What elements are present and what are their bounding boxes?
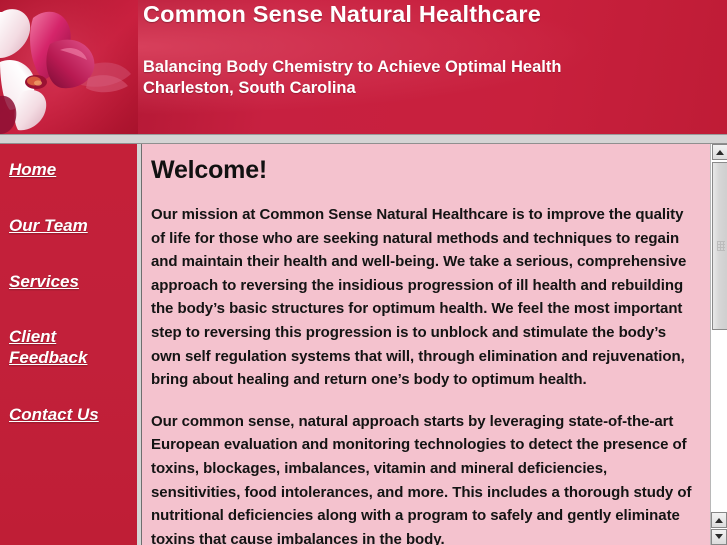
sidebar-item-label: Services [9,272,79,291]
content-scrollbar[interactable] [710,144,727,545]
sidebar-item-label: Home [9,160,56,179]
site-header: Common Sense Natural Healthcare Balancin… [0,0,727,134]
main-content-frame: Welcome! Our mission at Common Sense Nat… [142,144,727,545]
scrollbar-thumb[interactable] [712,162,727,330]
tagline-line-2: Charleston, South Carolina [143,78,561,99]
content-paragraph: Our mission at Common Sense Natural Heal… [151,203,692,392]
sidebar-item-contact-us[interactable]: Contact Us [9,404,99,425]
page-title: Welcome! [151,156,692,185]
page-scrollbar-down-button[interactable] [711,529,727,545]
tagline-line-1: Balancing Body Chemistry to Achieve Opti… [143,57,561,78]
sidebar-item-label-line-1: Client [9,326,87,347]
header-divider [0,134,727,144]
scrollbar-up-button[interactable] [712,144,727,160]
sidebar-item-services[interactable]: Services [9,271,79,292]
sidebar-item-label: Our Team [9,216,88,235]
triangle-down-icon [715,534,723,539]
sidebar-item-our-team[interactable]: Our Team [9,215,88,236]
content-paragraph: Our common sense, natural approach start… [151,410,692,545]
site-title: Common Sense Natural Healthcare [143,1,541,28]
page-root: Common Sense Natural Healthcare Balancin… [0,0,727,545]
triangle-up-icon [716,150,724,155]
main-content: Welcome! Our mission at Common Sense Nat… [142,144,710,545]
sidebar-item-label-line-2: Feedback [9,347,87,368]
magnolia-flower-image [0,0,138,134]
scrollbar-grip-icon [717,241,725,251]
sidebar-nav: Home Our Team Services Client Feedback C… [0,144,137,545]
sidebar-item-label: Contact Us [9,405,99,424]
sidebar-item-home[interactable]: Home [9,159,56,180]
body-area: Home Our Team Services Client Feedback C… [0,144,727,545]
site-tagline: Balancing Body Chemistry to Achieve Opti… [143,57,561,99]
sidebar-item-client-feedback[interactable]: Client Feedback [9,326,87,368]
triangle-up-icon [715,518,723,523]
page-scrollbar-up-button[interactable] [711,512,727,528]
